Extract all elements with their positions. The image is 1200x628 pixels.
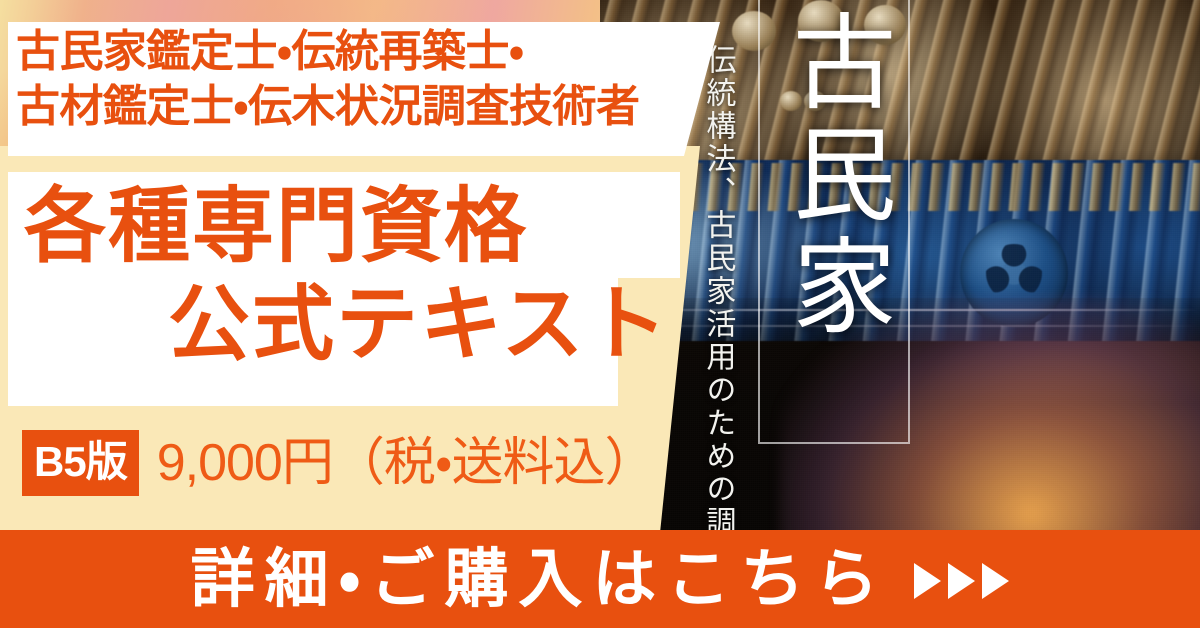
size-badge: B5版 (22, 430, 139, 496)
cta-bar[interactable]: 詳細・ご購入はこちら (0, 530, 1200, 628)
cta-label: 詳細・ご購入はこちら (191, 547, 889, 611)
headline-line-2: 公式テキスト (168, 284, 670, 366)
promotional-banner: 古民家 伝統構法、古民家活用のための調査と再生の 古民家鑑定士・伝統再築士・ 古… (0, 0, 1200, 628)
triangle-right-icon (948, 563, 975, 599)
price-amount: 9,000円（税・送料込） (157, 437, 656, 489)
triangle-right-icon (914, 563, 941, 599)
cta-arrows (914, 563, 1009, 599)
cover-title: 古民家 (770, 8, 900, 344)
triangle-right-icon (982, 563, 1009, 599)
price-row: B5版 9,000円（税・送料込） (22, 430, 656, 496)
certifications-text: 古民家鑑定士・伝統再築士・ 古材鑑定士・伝木状況調査技術者 (16, 24, 716, 135)
headline-line-1: 各種専門資格 (24, 186, 528, 268)
